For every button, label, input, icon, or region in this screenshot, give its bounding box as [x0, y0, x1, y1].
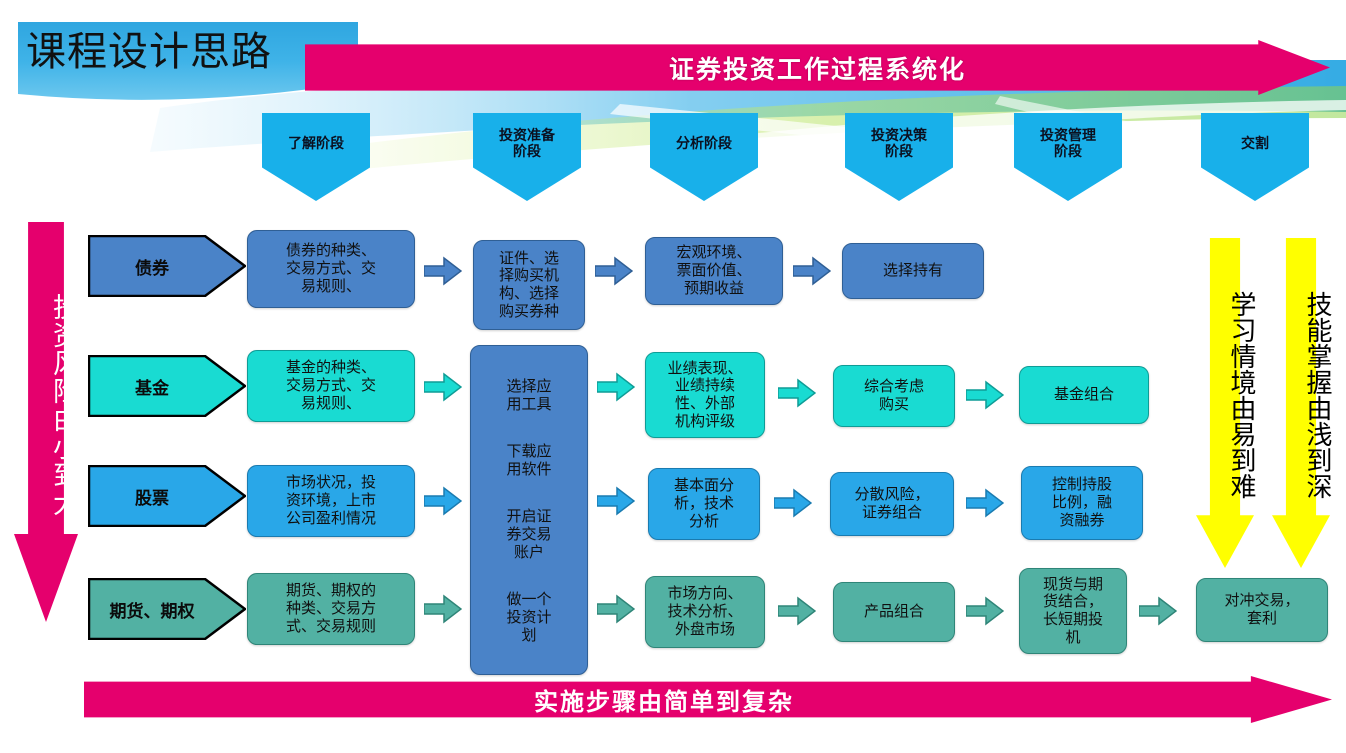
phase-badge-label: 交割 — [1241, 136, 1269, 152]
center-column-step-2: 下载应 用软件 — [475, 442, 583, 478]
flow-arrow-fund-2 — [597, 372, 635, 402]
flow-arrow-futures-5 — [1139, 596, 1177, 626]
phase-badge-6[interactable]: 交割 — [1201, 113, 1309, 201]
phase-badge-5[interactable]: 投资管理 阶段 — [1014, 113, 1122, 201]
row-futures-step-5[interactable]: 对冲交易， 套利 — [1196, 578, 1328, 642]
flow-arrow-stock-1 — [424, 486, 462, 516]
row-bond-step-1[interactable]: 债券的种类、 交易方式、交 易规则、 — [247, 230, 415, 308]
row-bond-step-2[interactable]: 证件、选 择购买机 构、选择 购买券种 — [473, 240, 585, 330]
phase-badge-1[interactable]: 了解阶段 — [262, 113, 370, 201]
top-process-arrow-label: 证券投资工作过程系统化 — [305, 40, 1330, 95]
center-column-step-3: 开启证 券交易 账户 — [475, 507, 583, 561]
phase-badge-label: 分析阶段 — [676, 136, 732, 152]
row-stock-step-2[interactable]: 基本面分 析，技术 分析 — [648, 468, 760, 540]
flow-arrow-bond-1 — [424, 256, 462, 286]
center-column-box[interactable]: 选择应 用工具 下载应 用软件 开启证 券交易 账户 做一个 投资计 划 — [470, 345, 588, 675]
flow-arrow-futures-3 — [778, 596, 816, 626]
risk-axis-label: 投资风险由小到大 — [14, 240, 78, 570]
phase-badge-3[interactable]: 分析阶段 — [650, 113, 758, 201]
row-bond-step-3[interactable]: 宏观环境、 票面价值、 预期收益 — [645, 237, 783, 305]
bottom-process-arrow-label: 实施步骤由简单到复杂 — [84, 676, 1244, 723]
row-stock-step-4[interactable]: 控制持股 比例，融 资融券 — [1021, 466, 1143, 540]
row-futures-step-3[interactable]: 产品组合 — [833, 582, 955, 642]
flow-arrow-bond-2 — [595, 256, 633, 286]
phase-badge-label: 投资准备 阶段 — [499, 128, 555, 160]
flow-arrow-futures-2 — [597, 594, 635, 624]
row-fund-step-3[interactable]: 综合考虑 购买 — [833, 365, 955, 427]
category-chevron-bond-label: 债券 — [88, 235, 246, 297]
flow-arrow-bond-3 — [793, 256, 831, 286]
phase-badge-label: 了解阶段 — [288, 136, 344, 152]
phase-badge-2[interactable]: 投资准备 阶段 — [473, 113, 581, 201]
flow-arrow-fund-3 — [778, 378, 816, 408]
row-stock-step-3[interactable]: 分散风险， 证券组合 — [830, 472, 954, 536]
row-futures-step-2[interactable]: 市场方向、 技术分析、 外盘市场 — [645, 576, 765, 648]
center-column-step-1: 选择应 用工具 — [475, 377, 583, 413]
row-fund-step-1[interactable]: 基金的种类、 交易方式、交 易规则、 — [247, 350, 415, 422]
row-futures-step-1[interactable]: 期货、期权的 种类、交易方 式、交易规则 — [247, 573, 415, 645]
row-fund-step-4[interactable]: 基金组合 — [1019, 366, 1149, 424]
flow-arrow-fund-4 — [966, 380, 1004, 410]
row-stock-step-1[interactable]: 市场状况，投 资环境，上市 公司盈利情况 — [247, 465, 415, 537]
flow-arrow-stock-4 — [966, 488, 1004, 518]
phase-badge-4[interactable]: 投资决策 阶段 — [845, 113, 953, 201]
flow-arrow-futures-4 — [966, 596, 1004, 626]
category-chevron-futures-label: 期货、期权 — [88, 578, 246, 640]
phase-badge-label: 投资决策 阶段 — [871, 128, 927, 160]
phase-badge-label: 投资管理 阶段 — [1040, 128, 1096, 160]
flow-arrow-stock-2 — [597, 486, 635, 516]
flow-arrow-fund-1 — [424, 372, 462, 402]
row-bond-step-4[interactable]: 选择持有 — [842, 243, 984, 299]
category-chevron-fund-label: 基金 — [88, 355, 246, 417]
row-fund-step-2[interactable]: 业绩表现、 业绩持续 性、外部 机构评级 — [645, 352, 765, 438]
category-chevron-stock-label: 股票 — [88, 465, 246, 527]
slide-canvas: 课程设计思路 证券投资工作过程系统化 了解阶段 投资准备 阶段 分析阶段 投资决… — [0, 0, 1346, 753]
flow-arrow-futures-1 — [424, 594, 462, 624]
skill-axis-label: 技能掌握由浅到深 — [1272, 250, 1330, 540]
row-futures-step-4[interactable]: 现货与期 货结合， 长短期投 机 — [1019, 568, 1127, 654]
flow-arrow-stock-3 — [774, 488, 812, 518]
learning-axis-label: 学习情境由易到难 — [1196, 250, 1254, 540]
center-column-step-4: 做一个 投资计 划 — [475, 590, 583, 644]
